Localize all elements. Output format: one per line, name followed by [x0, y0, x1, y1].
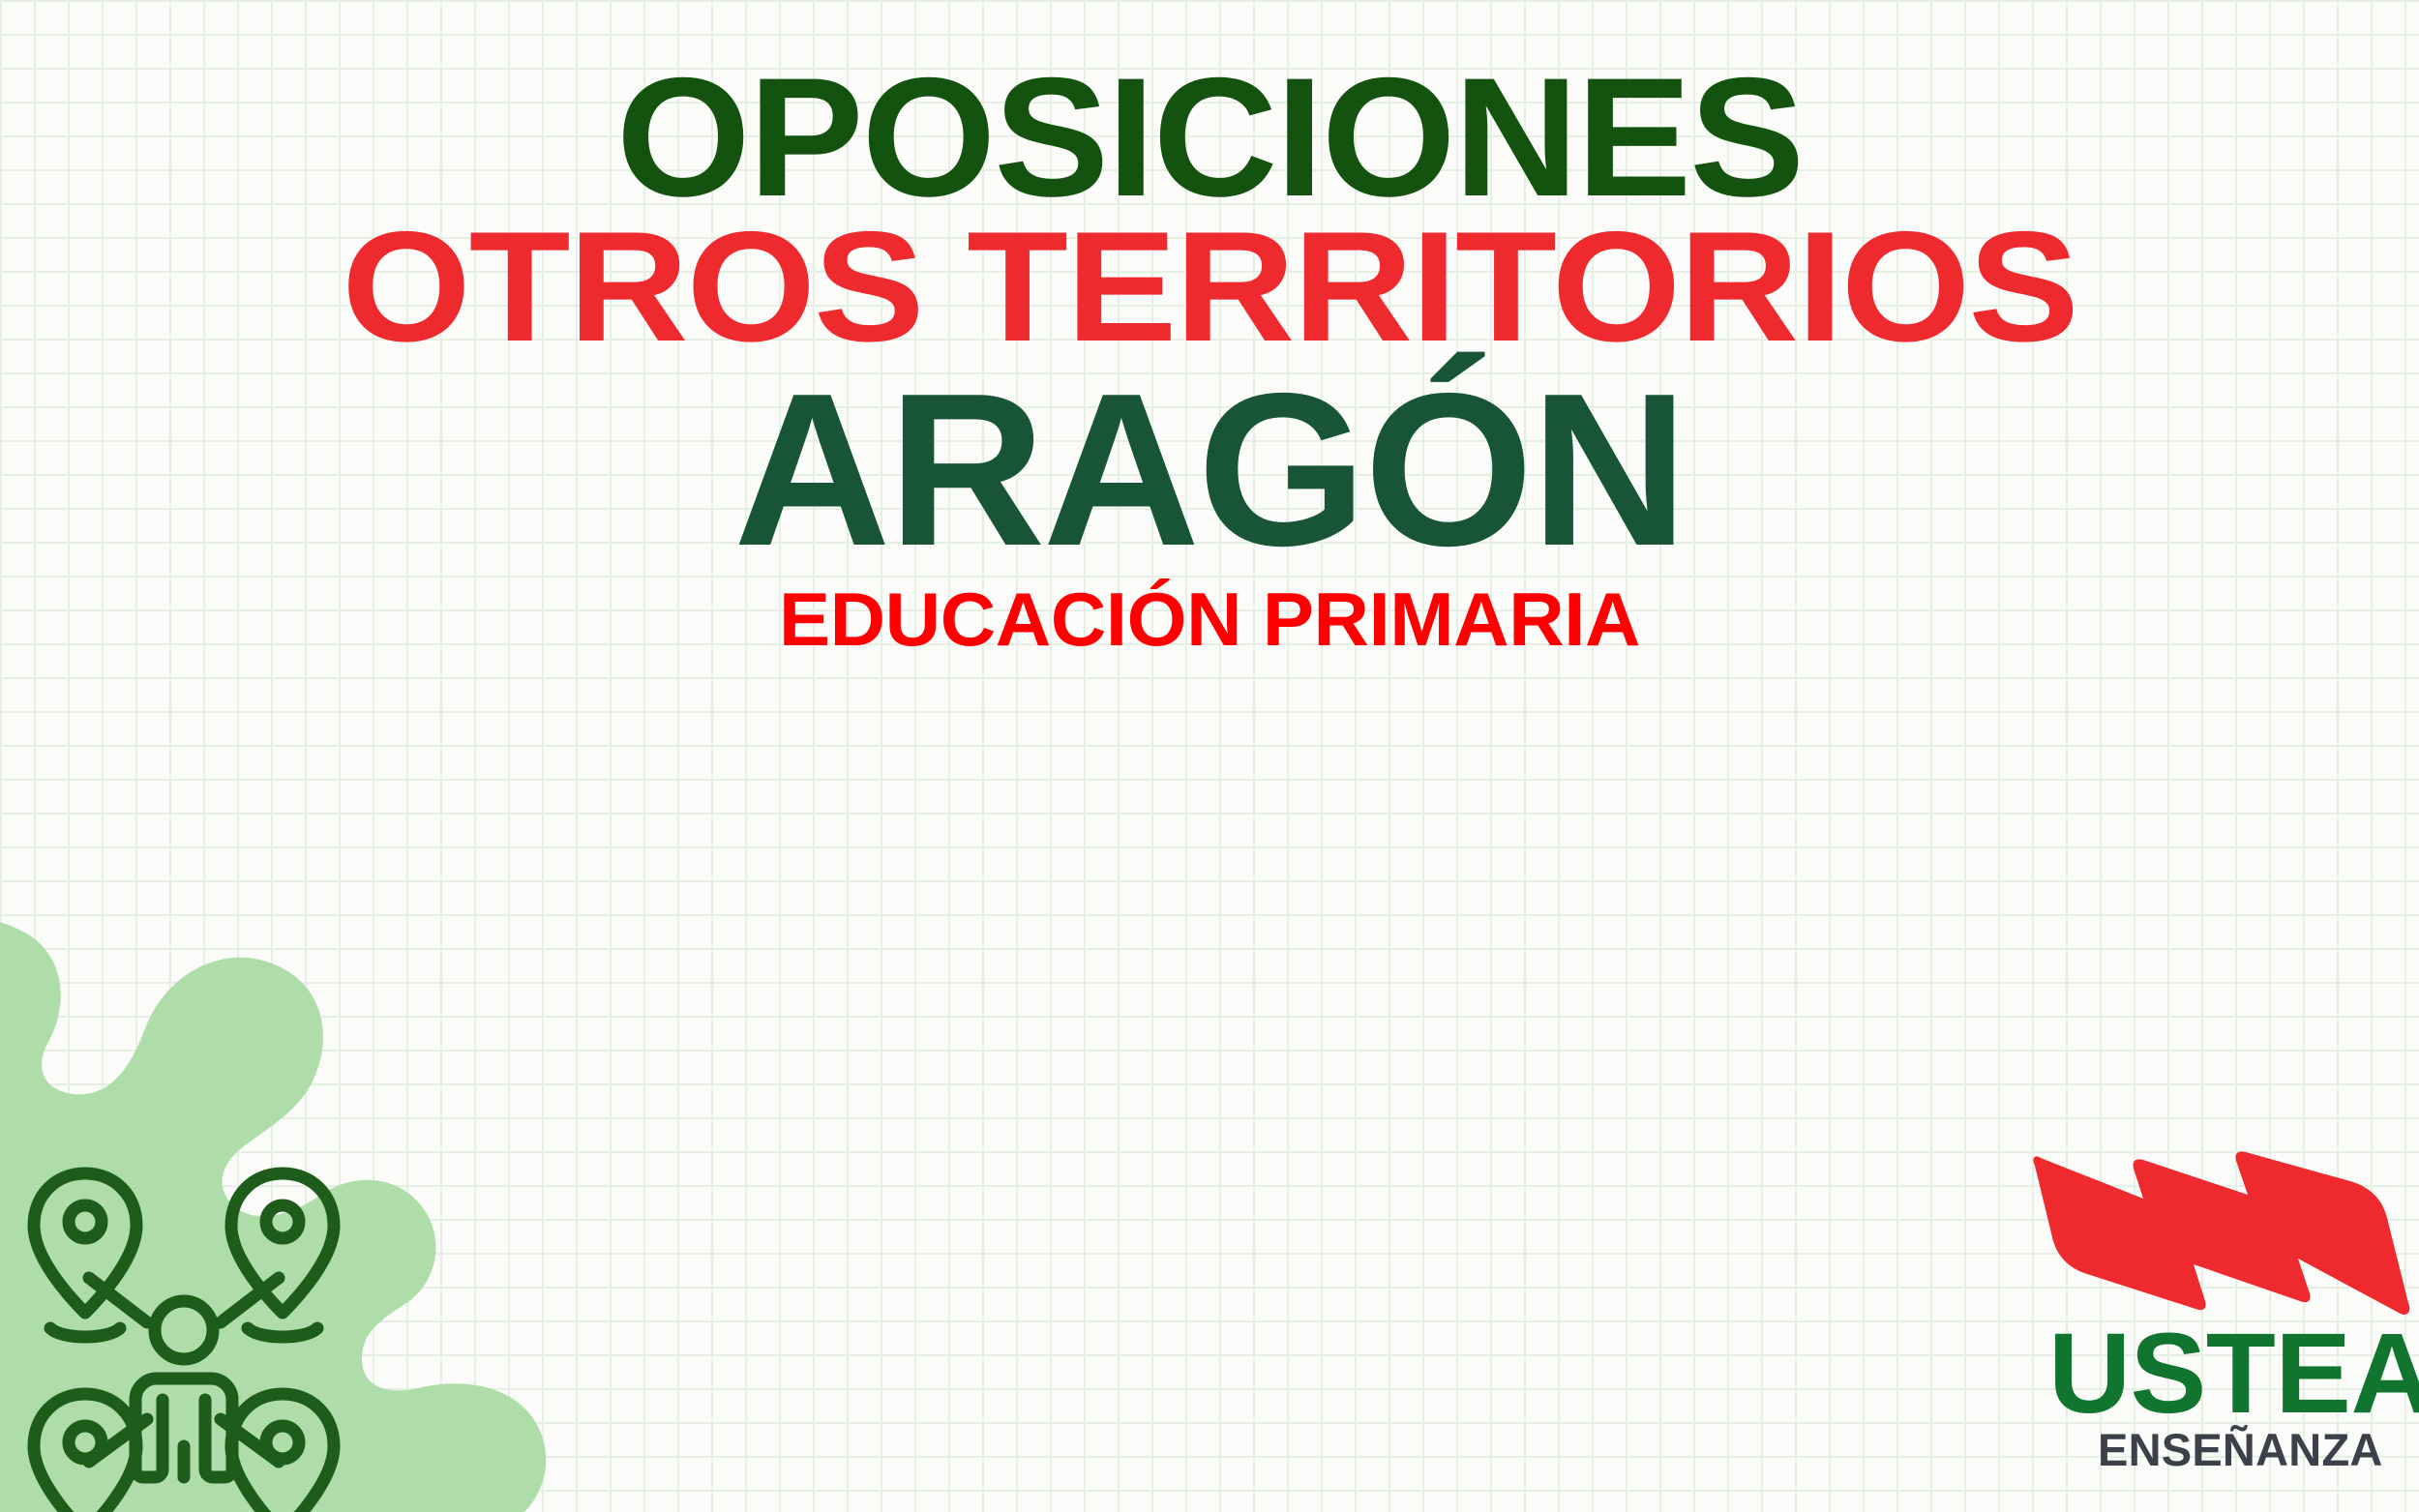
page-subtitle-educacion-primaria: EDUCACIÓN PRIMARIA — [0, 585, 2419, 655]
lightning-bolt-icon — [2027, 1137, 2419, 1320]
ustea-tagline: ENSEÑANZA — [2098, 1427, 2419, 1472]
page-title-line-otros-territorios: OTROS TERRITORIOS — [0, 215, 2419, 359]
ustea-wordmark: USTEA — [2048, 1317, 2419, 1431]
ustea-logo: USTEA ENSEÑANZA — [2027, 1137, 2419, 1512]
network-of-locations-illustration — [0, 904, 619, 1512]
page-title-line-oposiciones: OPOSICIONES — [0, 60, 2419, 216]
poster-canvas: OPOSICIONES OTROS TERRITORIOS ARAGÓN EDU… — [0, 0, 2419, 1512]
page-title-line-aragon: ARAGÓN — [0, 370, 2419, 570]
